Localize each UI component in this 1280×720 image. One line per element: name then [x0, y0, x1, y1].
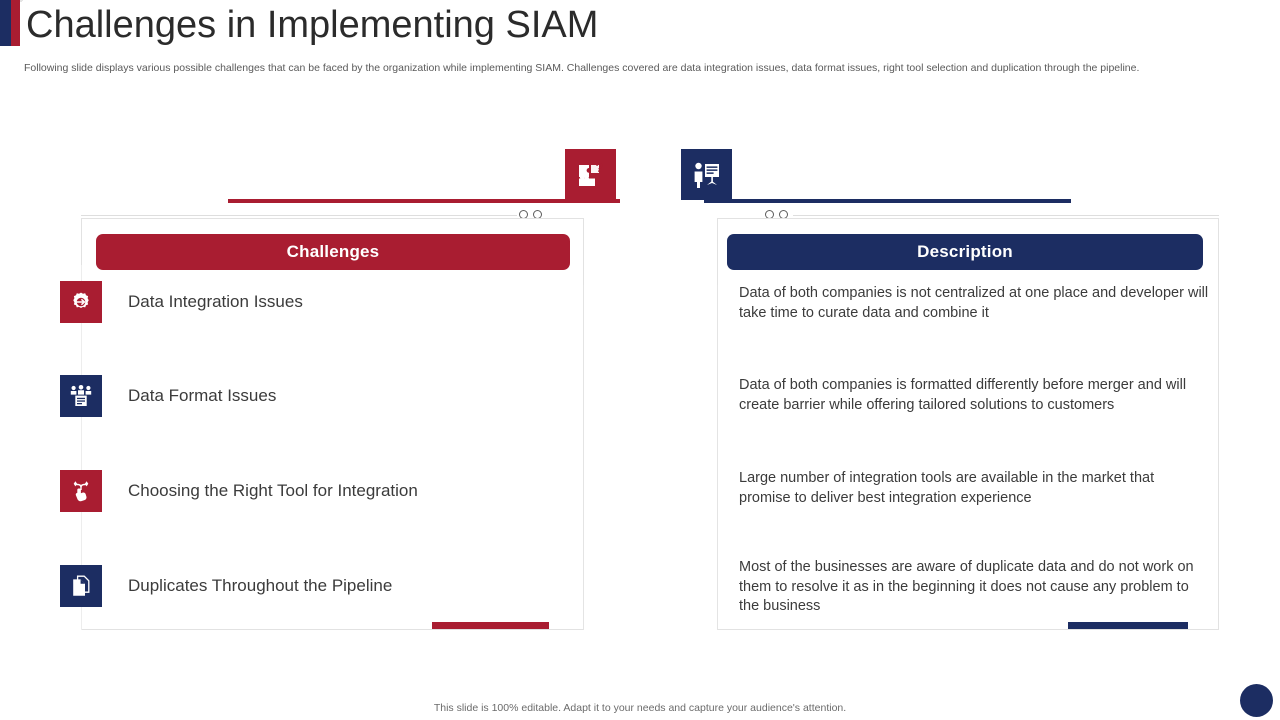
challenge-label: Data Integration Issues [128, 292, 303, 312]
challenge-label: Duplicates Throughout the Pipeline [128, 576, 392, 596]
footer-note: This slide is 100% editable. Adapt it to… [0, 702, 1280, 714]
title-accent-bar-red [11, 0, 20, 46]
page-title: Challenges in Implementing SIAM [26, 4, 598, 47]
challenge-label: Data Format Issues [128, 386, 276, 406]
challenges-divider [583, 285, 584, 630]
challenges-column-header[interactable]: Challenges [96, 234, 570, 270]
title-accent-bar-navy [0, 0, 11, 46]
presenter-board-icon [681, 149, 732, 200]
accent-rule-challenges [228, 199, 620, 203]
duplicate-documents-icon [60, 565, 102, 607]
description-text: Data of both companies is not centralize… [739, 284, 1209, 323]
description-text: Data of both companies is formatted diff… [739, 376, 1209, 415]
people-document-icon [60, 375, 102, 417]
challenges-bottom-accent [432, 622, 549, 629]
gear-arrow-icon [60, 281, 102, 323]
challenge-row[interactable]: Choosing the Right Tool for Integration [60, 469, 580, 513]
description-column-header[interactable]: Description [727, 234, 1203, 270]
challenge-label: Choosing the Right Tool for Integration [128, 481, 418, 501]
svg-text:?: ? [595, 160, 603, 175]
page-subtitle: Following slide displays various possibl… [24, 62, 1224, 74]
accent-rule-description [704, 199, 1071, 203]
description-text: Large number of integration tools are av… [739, 469, 1209, 508]
description-divider [717, 285, 718, 630]
puzzle-question-icon: ? [565, 149, 616, 200]
description-bottom-accent [1068, 622, 1188, 629]
thin-rule-challenges [81, 215, 517, 216]
challenge-row[interactable]: Data Format Issues [60, 374, 580, 418]
thin-rule-description [793, 215, 1219, 216]
description-text: Most of the businesses are aware of dupl… [739, 558, 1209, 617]
hand-choice-icon [60, 470, 102, 512]
challenge-row[interactable]: Duplicates Throughout the Pipeline [60, 564, 580, 608]
challenge-row[interactable]: Data Integration Issues [60, 280, 580, 324]
corner-decoration-circle [1240, 684, 1273, 717]
